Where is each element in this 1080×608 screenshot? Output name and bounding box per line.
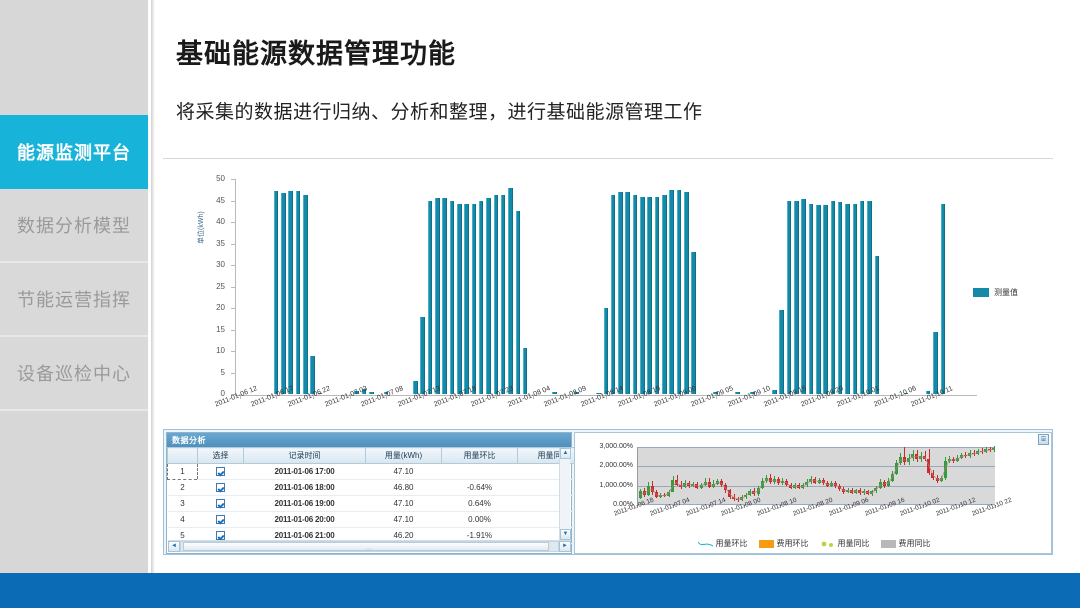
y-tick-label: 10 bbox=[203, 346, 225, 355]
legend-swatch-icon bbox=[759, 540, 774, 548]
bar bbox=[288, 191, 293, 394]
y-tick-mark bbox=[231, 201, 235, 202]
bottom-accent-bar bbox=[0, 573, 1080, 608]
hscroll-thumb[interactable]: ⋯ bbox=[183, 542, 549, 551]
y-tick-label: 2,000.00% bbox=[577, 462, 633, 469]
bar bbox=[794, 201, 799, 394]
checkbox-icon[interactable] bbox=[216, 531, 225, 540]
row-index: 2 bbox=[168, 480, 198, 496]
bar bbox=[633, 195, 638, 394]
row-checkbox[interactable] bbox=[198, 496, 244, 512]
trend-overlay bbox=[638, 447, 996, 505]
scroll-down-icon[interactable]: ▼ bbox=[560, 529, 571, 540]
y-tick-mark bbox=[231, 244, 235, 245]
candle-chart-plot-area bbox=[637, 447, 995, 505]
sidebar-item-label: 数据分析模型 bbox=[17, 212, 131, 238]
row-index: 3 bbox=[168, 496, 198, 512]
legend-swatch-icon bbox=[881, 540, 896, 548]
row-checkbox[interactable] bbox=[198, 464, 244, 480]
bar bbox=[640, 197, 645, 394]
bar bbox=[552, 392, 557, 394]
bar bbox=[662, 195, 667, 394]
bar bbox=[420, 317, 425, 394]
table-horizontal-scrollbar[interactable]: ◄ ⋯ ► bbox=[168, 540, 571, 552]
legend-label: 费用环比 bbox=[777, 538, 809, 549]
bar bbox=[684, 192, 689, 394]
sidebar-item-label: 节能运营指挥 bbox=[17, 286, 131, 312]
bar bbox=[816, 205, 821, 394]
bar bbox=[464, 204, 469, 394]
table-row[interactable]: 32011-01-06 19:0047.100.64% bbox=[168, 496, 590, 512]
y-tick-label: 0 bbox=[203, 389, 225, 398]
bar bbox=[867, 201, 872, 395]
bar bbox=[669, 190, 674, 394]
table-vertical-scrollbar[interactable]: ▲ ▼ bbox=[559, 448, 570, 540]
y-tick-label: 25 bbox=[203, 282, 225, 291]
col-select[interactable]: 选择 bbox=[198, 448, 244, 464]
bar bbox=[281, 193, 286, 394]
y-tick-mark bbox=[231, 179, 235, 180]
bar bbox=[941, 204, 946, 394]
bar bbox=[296, 191, 301, 394]
sidebar-item-label: 能源监测平台 bbox=[17, 139, 131, 165]
bar bbox=[831, 201, 836, 395]
bar bbox=[435, 198, 440, 394]
bar bbox=[823, 205, 828, 394]
bar bbox=[860, 201, 865, 394]
cell-usage-hb: -0.64% bbox=[442, 480, 518, 496]
lower-panel: 数据分析 选择 记录时间 用量(kWh) 用量环比 用量同比 12011-01-… bbox=[163, 429, 1053, 555]
bar bbox=[875, 256, 880, 394]
y-tick-label: 15 bbox=[203, 325, 225, 334]
y-tick-mark bbox=[231, 330, 235, 331]
cell-usage-hb: 0.00% bbox=[442, 512, 518, 528]
bar bbox=[647, 197, 652, 394]
sidebar: 能源监测平台 数据分析模型 节能运营指挥 设备巡检中心 bbox=[0, 0, 151, 573]
scroll-up-icon[interactable]: ▲ bbox=[560, 448, 571, 459]
y-tick-mark bbox=[231, 351, 235, 352]
pin-icon[interactable]: ⌸ bbox=[1038, 434, 1049, 445]
cell-usage: 47.10 bbox=[366, 496, 442, 512]
legend-label: 用量环比 bbox=[716, 538, 748, 549]
legend-fee-tb: 费用同比 bbox=[881, 538, 931, 549]
sidebar-shadow bbox=[151, 0, 155, 573]
hscroll-grip-icon: ⋯ bbox=[366, 546, 373, 553]
bar bbox=[494, 195, 499, 394]
y-tick-label: 50 bbox=[203, 174, 225, 183]
data-analysis-panel: 数据分析 选择 记录时间 用量(kWh) 用量环比 用量同比 12011-01-… bbox=[166, 432, 572, 554]
checkbox-icon[interactable] bbox=[216, 483, 225, 492]
table-row[interactable]: 22011-01-06 18:0046.80-0.64% bbox=[168, 480, 590, 496]
cell-usage: 46.80 bbox=[366, 480, 442, 496]
bar bbox=[853, 204, 858, 394]
y-tick-label: 35 bbox=[203, 239, 225, 248]
cell-usage-hb bbox=[442, 464, 518, 480]
bar bbox=[625, 192, 630, 394]
legend-label: 测量值 bbox=[994, 287, 1018, 298]
col-seq[interactable] bbox=[168, 448, 198, 464]
bar bbox=[274, 191, 279, 394]
page-title: 基础能源数据管理功能 bbox=[176, 32, 456, 71]
bar bbox=[618, 192, 623, 394]
sidebar-top-spacer bbox=[0, 0, 148, 115]
data-table: 选择 记录时间 用量(kWh) 用量环比 用量同比 12011-01-06 17… bbox=[167, 447, 590, 544]
y-tick-mark bbox=[231, 287, 235, 288]
col-usage-hb[interactable]: 用量环比 bbox=[442, 448, 518, 464]
candle-chart-legend: 用量环比 费用环比 用量同比 费用同比 bbox=[575, 538, 1053, 549]
col-usage[interactable]: 用量(kWh) bbox=[366, 448, 442, 464]
legend-usage-tb: 用量同比 bbox=[820, 538, 870, 549]
bar bbox=[369, 392, 374, 394]
y-tick-mark bbox=[231, 373, 235, 374]
bar bbox=[809, 204, 814, 394]
bar bbox=[516, 211, 521, 394]
bar-chart-legend: 测量值 bbox=[973, 287, 1018, 298]
hscroll-track[interactable]: ⋯ bbox=[180, 541, 559, 552]
sidebar-item-equipment-inspection[interactable]: 设备巡检中心 bbox=[0, 337, 148, 411]
y-tick-label: 20 bbox=[203, 303, 225, 312]
bar bbox=[735, 392, 740, 394]
cell-record-time: 2011-01-06 18:00 bbox=[244, 480, 366, 496]
y-tick-label: 3,000.00% bbox=[577, 443, 633, 450]
bar bbox=[691, 252, 696, 394]
table-body: 12011-01-06 17:0047.1022011-01-06 18:004… bbox=[168, 464, 590, 544]
row-index: 4 bbox=[168, 512, 198, 528]
bar bbox=[413, 381, 418, 394]
line-icon bbox=[698, 540, 713, 548]
app-screenshot-frame: 单位(kWh) 05101520253035404550 2011-01-06 … bbox=[163, 158, 1053, 558]
checkbox-icon[interactable] bbox=[216, 467, 225, 476]
cell-usage: 47.10 bbox=[366, 464, 442, 480]
bar bbox=[486, 198, 491, 395]
bar bbox=[677, 190, 682, 394]
bar-chart: 单位(kWh) 05101520253035404550 2011-01-06 … bbox=[163, 159, 1053, 429]
legend-usage-hb: 用量环比 bbox=[698, 538, 748, 549]
bar bbox=[838, 202, 843, 394]
sidebar-bottom-fill bbox=[0, 411, 148, 539]
page-subtitle: 将采集的数据进行归纳、分析和整理，进行基础能源管理工作 bbox=[176, 97, 703, 124]
row-checkbox[interactable] bbox=[198, 512, 244, 528]
bar bbox=[933, 332, 938, 394]
bar bbox=[845, 204, 850, 394]
legend-fee-hb: 费用环比 bbox=[759, 538, 809, 549]
y-tick-label: 5 bbox=[203, 368, 225, 377]
bar bbox=[787, 201, 792, 394]
bar bbox=[428, 201, 433, 395]
cell-record-time: 2011-01-06 19:00 bbox=[244, 496, 366, 512]
bar bbox=[604, 308, 609, 394]
col-record-time[interactable]: 记录时间 bbox=[244, 448, 366, 464]
panel-title: 数据分析 bbox=[167, 433, 571, 447]
cell-record-time: 2011-01-06 20:00 bbox=[244, 512, 366, 528]
sidebar-item-energy-saving-command[interactable]: 节能运营指挥 bbox=[0, 263, 148, 337]
bar bbox=[303, 195, 308, 394]
checkbox-icon[interactable] bbox=[216, 515, 225, 524]
legend-swatch-icon bbox=[973, 288, 989, 297]
bar bbox=[442, 198, 447, 394]
table-row[interactable]: 42011-01-06 20:0047.100.00% bbox=[168, 512, 590, 528]
bar-chart-plot-area bbox=[236, 179, 976, 394]
bar bbox=[479, 201, 484, 394]
legend-label: 用量同比 bbox=[838, 538, 870, 549]
cell-record-time: 2011-01-06 17:00 bbox=[244, 464, 366, 480]
sidebar-item-energy-monitoring[interactable]: 能源监测平台 bbox=[0, 115, 148, 189]
bar bbox=[611, 195, 616, 394]
table-header-row: 选择 记录时间 用量(kWh) 用量环比 用量同比 bbox=[168, 448, 590, 464]
y-tick-mark bbox=[231, 265, 235, 266]
bar bbox=[772, 390, 777, 394]
y-tick-label: 45 bbox=[203, 196, 225, 205]
scroll-left-icon[interactable]: ◄ bbox=[168, 541, 180, 552]
bar bbox=[523, 348, 528, 394]
cell-usage-hb: 0.64% bbox=[442, 496, 518, 512]
legend-label: 费用同比 bbox=[899, 538, 931, 549]
y-tick-mark bbox=[231, 222, 235, 223]
bar bbox=[801, 199, 806, 394]
checkbox-icon[interactable] bbox=[216, 499, 225, 508]
sidebar-item-data-analysis-model[interactable]: 数据分析模型 bbox=[0, 189, 148, 263]
bar bbox=[472, 204, 477, 394]
comparison-chart-panel: ⌸ 3,000.00%2,000.00%1,000.00%0.00% 2011-… bbox=[574, 432, 1052, 554]
bar bbox=[501, 195, 506, 394]
dot-line-icon bbox=[820, 540, 835, 548]
sidebar-item-label: 设备巡检中心 bbox=[17, 360, 131, 386]
scroll-right-icon[interactable]: ► bbox=[559, 541, 571, 552]
bar bbox=[779, 310, 784, 394]
y-tick-mark bbox=[231, 308, 235, 309]
row-checkbox[interactable] bbox=[198, 480, 244, 496]
y-tick-label: 1,000.00% bbox=[577, 482, 633, 489]
bar bbox=[655, 197, 660, 394]
cell-usage: 47.10 bbox=[366, 512, 442, 528]
bar bbox=[457, 204, 462, 394]
table-row[interactable]: 12011-01-06 17:0047.10 bbox=[168, 464, 590, 480]
row-index: 1 bbox=[168, 464, 198, 480]
bar bbox=[508, 188, 513, 394]
bar bbox=[450, 201, 455, 394]
y-tick-label: 40 bbox=[203, 217, 225, 226]
y-tick-label: 30 bbox=[203, 260, 225, 269]
bar bbox=[310, 356, 315, 394]
